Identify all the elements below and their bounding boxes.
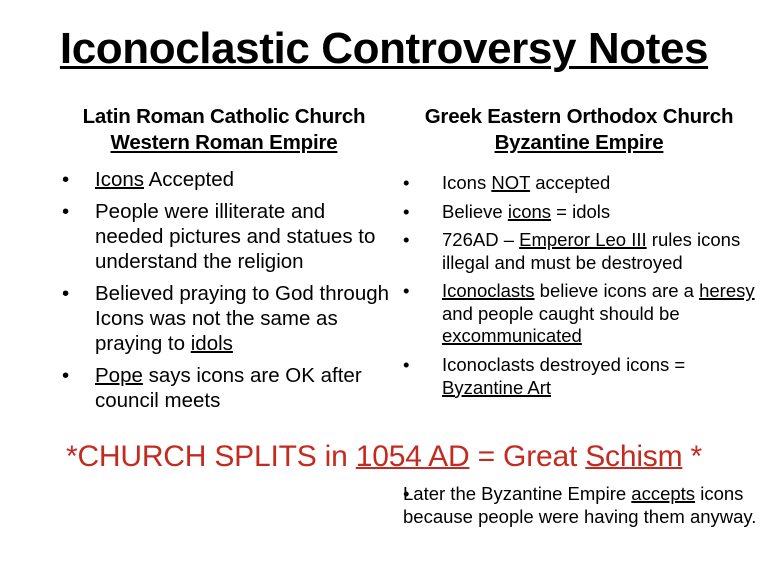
underlined-run: 1054 AD — [356, 440, 470, 473]
bullet-marker-icon: • — [62, 199, 72, 224]
underlined-run: icons — [508, 201, 551, 222]
bullet-text: 726AD – Emperor Leo III rules icons ille… — [442, 229, 761, 274]
left-column-header-line2: Western Roman Empire — [54, 130, 394, 156]
slide-title: Iconoclastic Controversy Notes — [0, 26, 768, 72]
left-column-header-line1: Latin Roman Catholic Church — [54, 104, 394, 130]
bullet-text: Iconoclasts destroyed icons = Byzantine … — [442, 354, 761, 399]
bullet-marker-icon: • — [62, 281, 72, 306]
underlined-run: idols — [191, 332, 233, 355]
text-run: * — [682, 440, 702, 473]
underlined-run: Byzantine Art — [442, 377, 551, 398]
right-column-bottom-bullet-list: •Later the Byzantine Empire accepts icon… — [403, 483, 761, 535]
text-run: 726AD – — [442, 229, 519, 250]
text-run: *CHURCH SPLITS in — [66, 440, 356, 473]
bullet-item-later-accepts-icons: •Later the Byzantine Empire accepts icon… — [403, 483, 761, 528]
bullet-item-icons-accepted: •Icons Accepted — [62, 167, 392, 192]
text-run: Later the Byzantine Empire — [403, 483, 631, 504]
slide-canvas: Iconoclastic Controversy Notes Latin Rom… — [0, 0, 768, 576]
bullet-item-icons-not-accepted: •Icons NOT accepted — [403, 172, 761, 195]
underlined-run: Icons — [95, 168, 144, 191]
underlined-run: heresy — [699, 280, 755, 301]
left-column-bullet-list: •Icons Accepted•People were illiterate a… — [62, 167, 392, 420]
underlined-run: Schism — [585, 440, 682, 473]
bullet-text: Later the Byzantine Empire accepts icons… — [403, 483, 756, 527]
right-column-header-line1: Greek Eastern Orthodox Church — [398, 104, 760, 130]
bullet-marker-icon: • — [403, 483, 413, 506]
text-run: = idols — [551, 201, 610, 222]
bullet-item-pope-says-ok: •Pope says icons are OK after council me… — [62, 363, 392, 413]
bullet-item-people-illiterate: •People were illiterate and needed pictu… — [62, 199, 392, 274]
text-run: accepted — [530, 172, 610, 193]
bullet-marker-icon: • — [62, 363, 72, 388]
text-run: Believe — [442, 201, 508, 222]
slide-title-text: Iconoclastic Controversy Notes — [60, 24, 708, 73]
bullet-marker-icon: • — [62, 167, 72, 192]
bullet-marker-icon: • — [403, 172, 413, 195]
text-run: Icons — [442, 172, 491, 193]
bullet-text: Believed praying to God through Icons wa… — [95, 281, 392, 356]
underlined-run: excommunicated — [442, 325, 582, 346]
church-split-banner: *CHURCH SPLITS in 1054 AD = Great Schism… — [0, 440, 768, 475]
right-column-bullet-list: •Icons NOT accepted•Believe icons = idol… — [403, 172, 761, 405]
bullet-text: Iconoclasts believe icons are a heresy a… — [442, 280, 761, 348]
bullet-item-leo-iii-726ad: •726AD – Emperor Leo III rules icons ill… — [403, 229, 761, 274]
underlined-run: Emperor Leo III — [519, 229, 647, 250]
bullet-text: Believe icons = idols — [442, 201, 761, 224]
text-run: Believed praying to God through Icons wa… — [95, 282, 389, 355]
text-run: believe icons are a — [535, 280, 700, 301]
bullet-item-praying-through-icons: •Believed praying to God through Icons w… — [62, 281, 392, 356]
bullet-marker-icon: • — [403, 280, 413, 303]
underlined-run: Pope — [95, 364, 143, 387]
left-column-header: Latin Roman Catholic Church Western Roma… — [54, 104, 394, 155]
text-run: = Great — [469, 440, 585, 473]
text-run: People were illiterate and needed pictur… — [95, 200, 375, 273]
right-column-header-line2: Byzantine Empire — [398, 130, 760, 156]
text-run: and people caught should be — [442, 303, 680, 324]
bullet-marker-icon: • — [403, 229, 413, 252]
underlined-run: NOT — [491, 172, 530, 193]
right-column-header: Greek Eastern Orthodox Church Byzantine … — [398, 104, 760, 155]
text-run: Iconoclasts destroyed icons = — [442, 354, 685, 375]
bullet-marker-icon: • — [403, 201, 413, 224]
bullet-text: People were illiterate and needed pictur… — [95, 199, 392, 274]
bullet-text: Pope says icons are OK after council mee… — [95, 363, 392, 413]
bullet-item-iconoclasts-heresy: •Iconoclasts believe icons are a heresy … — [403, 280, 761, 348]
bullet-item-iconoclasts-destroyed: •Iconoclasts destroyed icons = Byzantine… — [403, 354, 761, 399]
bullet-text: Icons NOT accepted — [442, 172, 761, 195]
bullet-item-icons-equal-idols: •Believe icons = idols — [403, 201, 761, 224]
bullet-marker-icon: • — [403, 354, 413, 377]
text-run: Accepted — [144, 168, 234, 191]
underlined-run: accepts — [631, 483, 695, 504]
underlined-run: Iconoclasts — [442, 280, 535, 301]
bullet-text: Icons Accepted — [95, 167, 392, 192]
